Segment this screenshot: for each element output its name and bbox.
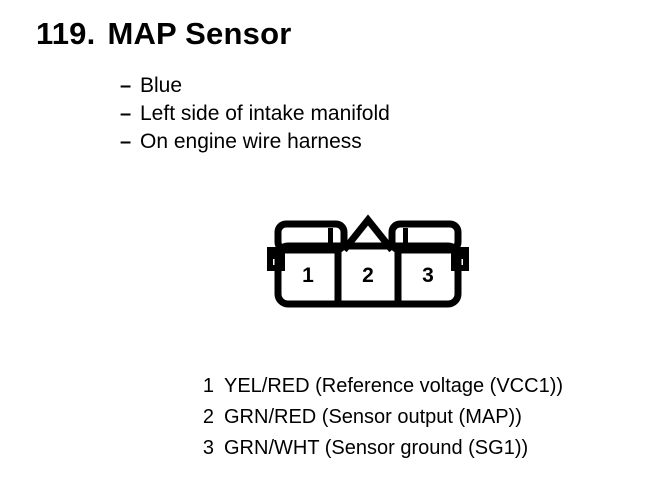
- pin-number-2: 2: [362, 264, 374, 287]
- list-item: – Blue: [120, 72, 560, 100]
- dash-icon: –: [120, 73, 140, 100]
- legend-row: 3 GRN/WHT (Sensor ground (SG1)): [196, 433, 656, 464]
- legend-pin-number: 3: [196, 433, 214, 464]
- legend-pin-description: YEL/RED (Reference voltage (VCC1)): [224, 371, 563, 402]
- legend-pin-number: 2: [196, 402, 214, 433]
- legend-row: 1 YEL/RED (Reference voltage (VCC1)): [196, 371, 656, 402]
- list-item-label: Blue: [140, 72, 182, 99]
- list-item: – On engine wire harness: [120, 128, 560, 156]
- right-shoulder-slot-icon: [403, 228, 408, 244]
- dash-icon: –: [120, 101, 140, 128]
- dash-icon: –: [120, 129, 140, 156]
- legend-pin-number: 1: [196, 371, 214, 402]
- legend-pin-description: GRN/RED (Sensor output (MAP)): [224, 402, 522, 433]
- pin-number-3: 3: [422, 264, 434, 287]
- page-title-text: MAP Sensor: [107, 16, 291, 51]
- page-title-number: 119.: [36, 16, 95, 52]
- slide-page: 119.MAP Sensor – Blue – Left side of int…: [0, 0, 672, 492]
- pin-legend: 1 YEL/RED (Reference voltage (VCC1)) 2 G…: [196, 371, 656, 464]
- legend-row: 2 GRN/RED (Sensor output (MAP)): [196, 402, 656, 433]
- connector-drawing: 1 2 3: [248, 206, 488, 318]
- connector-diagram: 1 2 3: [248, 206, 488, 318]
- pin-number-1: 1: [302, 264, 314, 287]
- list-item-label: Left side of intake manifold: [140, 100, 390, 127]
- left-shoulder-slot-icon: [328, 228, 333, 244]
- description-bullet-list: – Blue – Left side of intake manifold – …: [120, 72, 560, 156]
- legend-pin-description: GRN/WHT (Sensor ground (SG1)): [224, 433, 528, 464]
- list-item-label: On engine wire harness: [140, 128, 362, 155]
- list-item: – Left side of intake manifold: [120, 100, 560, 128]
- page-title: 119.MAP Sensor: [36, 16, 291, 52]
